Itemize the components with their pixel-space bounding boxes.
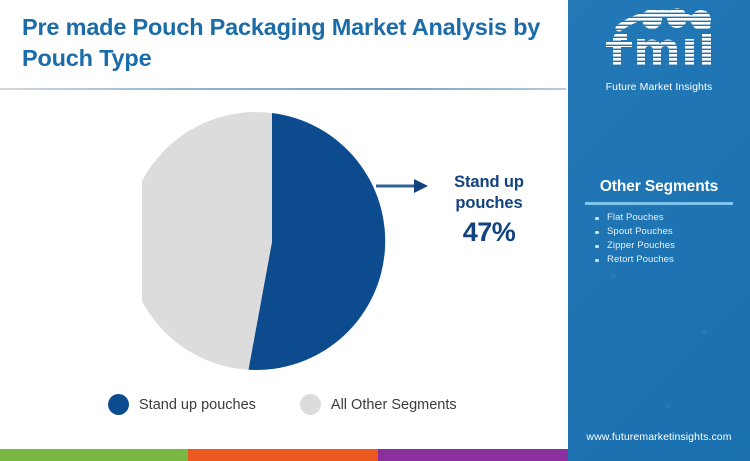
list-item: Retort Pouches [593, 253, 743, 267]
list-item: Spout Pouches [593, 225, 743, 239]
callout-label-line1: Stand up [429, 172, 549, 193]
legend-label: Stand up pouches [139, 397, 256, 413]
legend-swatch-icon [300, 394, 321, 415]
chart-legend: Stand up pouches All Other Segments [108, 394, 457, 415]
list-item: Zipper Pouches [593, 239, 743, 253]
pie-chart-svg [142, 112, 402, 372]
other-segments-list: Flat Pouches Spout Pouches Zipper Pouche… [593, 211, 743, 267]
legend-item-all-other-segments[interactable]: All Other Segments [300, 394, 457, 415]
page-title: Pre made Pouch Packaging Market Analysis… [22, 12, 542, 75]
legend-label: All Other Segments [331, 397, 457, 413]
other-segments-heading: Other Segments [568, 178, 750, 196]
bottom-color-bar [0, 449, 568, 461]
pie-chart [142, 112, 402, 372]
title-divider [0, 88, 566, 90]
website-url[interactable]: www.futuremarketinsights.com [568, 431, 750, 443]
brand-tagline: Future Market Insights [568, 81, 750, 93]
color-bar-segment-green [0, 449, 188, 461]
color-bar-segment-orange [188, 449, 378, 461]
brand-logo[interactable]: Future Market Insights [568, 6, 750, 93]
side-panel: Future Market Insights Other Segments Fl… [568, 0, 750, 461]
main-content-area: Pre made Pouch Packaging Market Analysis… [0, 0, 568, 449]
other-segments-underline [585, 202, 733, 205]
callout-arrow-icon [376, 176, 428, 196]
infographic-canvas: Pre made Pouch Packaging Market Analysis… [0, 0, 750, 461]
fmi-logo-icon [589, 6, 729, 80]
pie-slice-all-other-segments [142, 112, 272, 370]
color-bar-segment-purple [378, 449, 568, 461]
legend-swatch-icon [108, 394, 129, 415]
callout-label-line2: pouches [429, 193, 549, 214]
list-item: Flat Pouches [593, 211, 743, 225]
callout-label: Stand up pouches 47% [429, 172, 549, 248]
callout-value: 47% [429, 216, 549, 248]
legend-item-stand-up-pouches[interactable]: Stand up pouches [108, 394, 256, 415]
